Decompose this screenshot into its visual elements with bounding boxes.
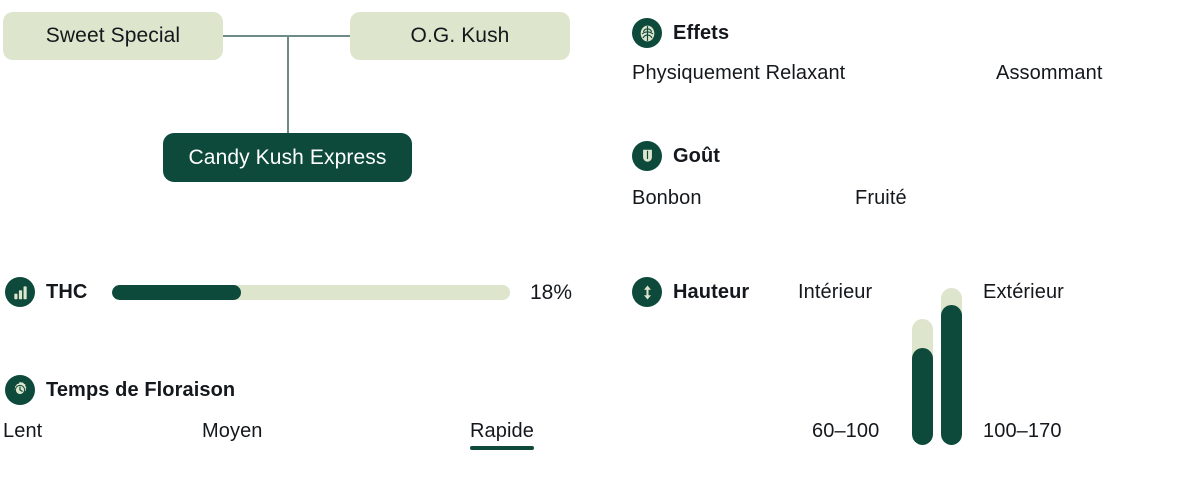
thc-title: THC [46,281,87,304]
height-indoor-label: Intérieur [798,281,872,304]
taste-value-2[interactable]: Fruité [855,187,907,210]
thc-heading: THC [5,277,87,307]
flowering-option-lent[interactable]: Lent [3,420,42,443]
thc-value-label: 18% [530,281,572,305]
flowering-time-heading: Temps de Floraison [5,375,235,405]
effect-value-2[interactable]: Assommant [996,62,1103,85]
flowering-option-moyen-label: Moyen [202,420,263,442]
height-bar-outdoor-fill [941,305,962,445]
thc-meter-track [112,285,510,300]
height-outdoor-label: Extérieur [983,281,1064,304]
flowering-time-title: Temps de Floraison [46,379,235,402]
height-heading: Hauteur [632,277,749,307]
flowering-option-lent-label: Lent [3,420,42,442]
lineage-parent-a-label: Sweet Special [46,24,180,48]
height-bar-outdoor [941,288,962,445]
brain-icon [632,18,662,48]
height-outdoor-range: 100–170 [983,420,1062,443]
effect-value-1[interactable]: Physiquement Relaxant [632,62,845,85]
lineage-parent-b-label: O.G. Kush [411,24,510,48]
effects-heading: Effets [632,18,729,48]
lineage-parent-b[interactable]: O.G. Kush [350,12,570,60]
height-bar-indoor [912,319,933,445]
lineage-child[interactable]: Candy Kush Express [163,133,412,182]
height-indoor-range: 60–100 [812,420,879,443]
flowering-option-moyen[interactable]: Moyen [202,420,263,443]
taste-value-1[interactable]: Bonbon [632,187,702,210]
flowering-option-rapide-label: Rapide [470,420,534,442]
flowering-option-rapide[interactable]: Rapide [470,420,534,450]
clock-gear-icon [5,375,35,405]
thc-meter-fill [112,285,241,300]
effects-title: Effets [673,22,729,45]
height-title: Hauteur [673,281,749,304]
arrows-up-down-icon [632,277,662,307]
strain-info-panel: Sweet Special O.G. Kush Candy Kush Expre… [0,0,1200,480]
bar-chart-icon [5,277,35,307]
flowering-selected-underline [470,446,534,450]
tongue-icon [632,141,662,171]
lineage-connector-vertical [287,35,289,134]
taste-title: Goût [673,145,720,168]
height-bar-indoor-fill [912,348,933,445]
taste-heading: Goût [632,141,720,171]
lineage-parent-a[interactable]: Sweet Special [3,12,223,60]
lineage-child-label: Candy Kush Express [189,146,387,170]
